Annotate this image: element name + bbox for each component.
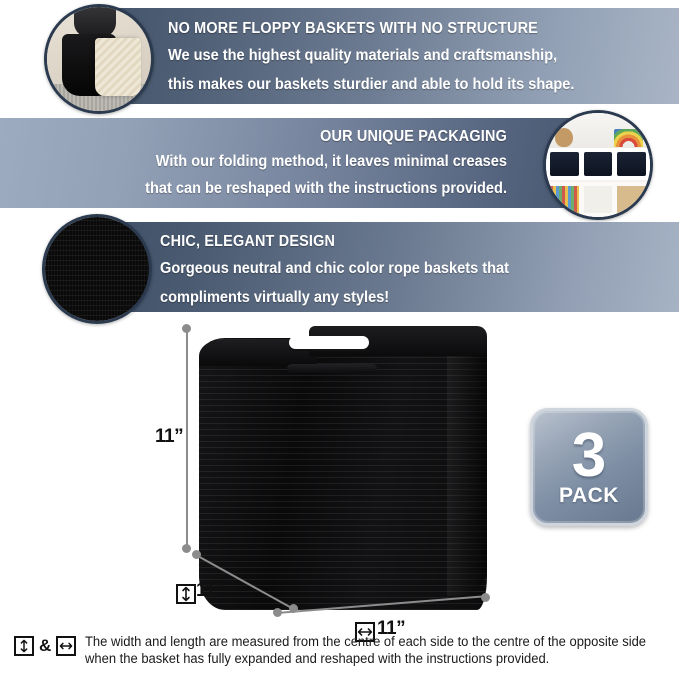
height-dimension-label: 11” bbox=[155, 426, 183, 448]
feature-banner-unique-packaging: OUR UNIQUE PACKAGING With our folding me… bbox=[0, 118, 583, 208]
feature-2-body-line2: that can be reshaped with the instructio… bbox=[30, 179, 507, 199]
storage-bin bbox=[617, 152, 646, 175]
infographic-canvas: NO MORE FLOPPY BASKETS WITH NO STRUCTURE… bbox=[0, 0, 679, 673]
feature-2-title: OUR UNIQUE PACKAGING bbox=[35, 128, 507, 145]
ampersand-label: & bbox=[39, 636, 51, 656]
toy-shape bbox=[617, 186, 646, 213]
horizontal-arrow-icon bbox=[56, 636, 76, 656]
feature-3-body-line1: Gorgeous neutral and chic color rope bas… bbox=[160, 259, 648, 279]
three-pack-badge: 3 PACK bbox=[530, 408, 648, 526]
storage-bin bbox=[550, 152, 579, 175]
books-shape bbox=[550, 186, 579, 213]
rope-weave-texture bbox=[45, 217, 149, 321]
bathroom-scene-illustration bbox=[47, 7, 151, 111]
storage-bin bbox=[584, 152, 613, 175]
basket-handle-cutout bbox=[289, 336, 369, 349]
depth-dimension-dot-near bbox=[192, 550, 201, 559]
disclaimer-line2: when the basket has fully expanded and r… bbox=[85, 651, 646, 668]
rope-texture-photo bbox=[42, 214, 152, 324]
measurement-disclaimer: & The width and length are measured from… bbox=[0, 628, 679, 673]
pack-count: 3 bbox=[572, 429, 606, 483]
feature-3-body-line2: compliments virtually any styles! bbox=[160, 288, 648, 308]
feature-banner-2-text: OUR UNIQUE PACKAGING With our folding me… bbox=[0, 118, 583, 198]
rainbow-toy-shape bbox=[614, 129, 643, 148]
cubby-row-with-bins bbox=[546, 148, 650, 179]
basket-body bbox=[199, 338, 487, 610]
pack-label: PACK bbox=[559, 485, 619, 507]
vertical-arrow-icon bbox=[176, 584, 196, 604]
disclaimer-text: The width and length are measured from t… bbox=[85, 628, 663, 667]
feature-1-body-line2: this makes our baskets sturdier and able… bbox=[168, 75, 648, 95]
feature-banner-3-text: CHIC, ELEGANT DESIGN Gorgeous neutral an… bbox=[96, 222, 679, 307]
cream-towel-shape bbox=[95, 38, 141, 96]
feature-1-body-line1: We use the highest quality materials and… bbox=[168, 46, 648, 66]
feature-2-body-line1: With our folding method, it leaves minim… bbox=[30, 152, 507, 172]
disclaimer-line1: The width and length are measured from t… bbox=[85, 634, 646, 651]
black-rope-storage-basket bbox=[199, 322, 487, 610]
empty-cubby bbox=[584, 186, 613, 213]
width-dimension-dot-right bbox=[481, 593, 490, 602]
basket-handle-band bbox=[287, 364, 377, 373]
height-dimension-dot-bottom bbox=[182, 544, 191, 553]
teddy-bear-shape bbox=[555, 128, 573, 148]
height-dimension-line bbox=[186, 328, 188, 550]
width-dimension-dot-left bbox=[273, 608, 282, 617]
cubby-row-lower bbox=[546, 182, 650, 217]
depth-dimension-label: 11” bbox=[196, 580, 224, 602]
feature-3-title: CHIC, ELEGANT DESIGN bbox=[160, 233, 643, 250]
shelf-cubby-photo bbox=[543, 110, 653, 220]
feature-banner-no-floppy-baskets: NO MORE FLOPPY BASKETS WITH NO STRUCTURE… bbox=[96, 8, 679, 104]
vertical-arrow-icon bbox=[14, 636, 34, 656]
bathroom-basket-photo bbox=[44, 4, 154, 114]
feature-1-title: NO MORE FLOPPY BASKETS WITH NO STRUCTURE bbox=[168, 20, 643, 37]
feature-banner-1-text: NO MORE FLOPPY BASKETS WITH NO STRUCTURE… bbox=[96, 8, 679, 94]
feature-banner-chic-elegant-design: CHIC, ELEGANT DESIGN Gorgeous neutral an… bbox=[96, 222, 679, 312]
basket-right-edge-shading bbox=[447, 346, 487, 596]
shelf-scene-illustration bbox=[546, 113, 650, 217]
disclaimer-icon-group: & bbox=[14, 636, 76, 656]
height-dimension-dot-top bbox=[182, 324, 191, 333]
